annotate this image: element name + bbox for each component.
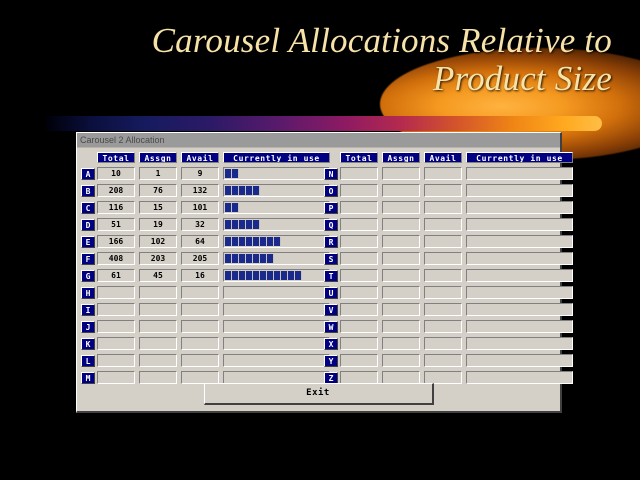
in-use-bar	[466, 286, 573, 299]
cell-avail[interactable]: 101	[181, 201, 219, 214]
cell-total[interactable]: 116	[97, 201, 135, 214]
cell-assgn[interactable]: 19	[139, 218, 177, 231]
bar-segment	[253, 271, 260, 280]
cell-avail[interactable]	[181, 320, 219, 333]
bar-segment	[225, 237, 232, 246]
cell-assgn[interactable]: 15	[139, 201, 177, 214]
bar-segment	[260, 271, 267, 280]
decorative-gradient-bar	[46, 116, 602, 131]
row-label-j: J	[81, 321, 95, 333]
window-titlebar[interactable]: Carousel 2 Allocation	[77, 133, 560, 148]
bar-segment	[253, 220, 260, 229]
cell-avail[interactable]: 16	[181, 269, 219, 282]
cell-avail[interactable]	[181, 303, 219, 316]
cell-avail[interactable]: 64	[181, 235, 219, 248]
page-title-line-1: Carousel Allocations Relative to	[32, 22, 612, 60]
cell-assgn[interactable]	[382, 303, 420, 316]
cell-avail[interactable]	[424, 269, 462, 282]
bar-segment	[239, 220, 246, 229]
cell-assgn[interactable]	[382, 286, 420, 299]
in-use-bar	[223, 184, 330, 197]
cell-avail[interactable]	[181, 286, 219, 299]
cell-avail[interactable]	[181, 354, 219, 367]
row-label-d: D	[81, 219, 95, 231]
allocation-rows-right: NOPQRSTUVWXYZ	[324, 166, 561, 385]
carousel-allocation-window: Carousel 2 Allocation Total Assgn Avail …	[76, 132, 562, 413]
bar-segment	[232, 237, 239, 246]
column-header-avail: Avail	[181, 152, 219, 163]
in-use-bar	[223, 201, 330, 214]
cell-total[interactable]	[97, 303, 135, 316]
cell-assgn[interactable]	[139, 286, 177, 299]
cell-avail[interactable]: 9	[181, 167, 219, 180]
in-use-bar	[466, 354, 573, 367]
table-row: U	[324, 285, 561, 300]
column-header-in-use: Currently in use	[223, 152, 330, 163]
in-use-bar	[466, 320, 573, 333]
cell-assgn[interactable]	[139, 354, 177, 367]
bar-segment	[239, 254, 246, 263]
row-label-s: S	[324, 253, 338, 265]
cell-total[interactable]: 208	[97, 184, 135, 197]
column-header-row-left: Total Assgn Avail Currently in use	[81, 151, 318, 164]
cell-total[interactable]	[340, 218, 378, 231]
bar-segment	[239, 237, 246, 246]
table-row: L	[81, 353, 318, 368]
in-use-bar	[223, 286, 330, 299]
bar-segment	[246, 271, 253, 280]
cell-assgn[interactable]	[382, 184, 420, 197]
cell-assgn[interactable]	[382, 235, 420, 248]
table-row: H	[81, 285, 318, 300]
in-use-bar	[466, 303, 573, 316]
cell-assgn[interactable]	[139, 337, 177, 350]
bar-segment	[260, 237, 267, 246]
bar-segment	[239, 186, 246, 195]
cell-total[interactable]	[340, 167, 378, 180]
cell-total[interactable]: 10	[97, 167, 135, 180]
bar-segment	[232, 254, 239, 263]
table-row: Q	[324, 217, 561, 232]
row-label-o: O	[324, 185, 338, 197]
row-label-n: N	[324, 168, 338, 180]
cell-avail[interactable]	[424, 184, 462, 197]
bar-segment	[232, 271, 239, 280]
table-row: N	[324, 166, 561, 181]
column-header-assgn: Assgn	[382, 152, 420, 163]
table-row: G614516	[81, 268, 318, 283]
cell-total[interactable]	[97, 337, 135, 350]
column-header-total: Total	[340, 152, 378, 163]
cell-assgn[interactable]	[382, 354, 420, 367]
table-row: T	[324, 268, 561, 283]
bar-segment	[260, 254, 267, 263]
bar-segment	[225, 254, 232, 263]
table-row: V	[324, 302, 561, 317]
cell-avail[interactable]: 205	[181, 252, 219, 265]
bar-segment	[225, 203, 232, 212]
cell-total[interactable]	[340, 337, 378, 350]
bar-segment	[246, 220, 253, 229]
cell-avail[interactable]	[424, 286, 462, 299]
row-label-h: H	[81, 287, 95, 299]
cell-assgn[interactable]: 102	[139, 235, 177, 248]
cell-total[interactable]: 408	[97, 252, 135, 265]
button-area: Exit	[77, 383, 560, 405]
table-row: F408203205	[81, 251, 318, 266]
cell-assgn[interactable]	[382, 167, 420, 180]
table-row: R	[324, 234, 561, 249]
cell-avail[interactable]: 132	[181, 184, 219, 197]
in-use-bar	[466, 184, 573, 197]
row-label-w: W	[324, 321, 338, 333]
table-row: S	[324, 251, 561, 266]
cell-assgn[interactable]	[382, 269, 420, 282]
bar-segment	[253, 186, 260, 195]
window-client-area: Total Assgn Avail Currently in use A1019…	[77, 148, 560, 411]
bar-segment	[232, 169, 239, 178]
bar-segment	[288, 271, 295, 280]
column-header-total: Total	[97, 152, 135, 163]
cell-assgn[interactable]	[139, 303, 177, 316]
cell-total[interactable]	[340, 286, 378, 299]
table-row: P	[324, 200, 561, 215]
table-row: D511932	[81, 217, 318, 232]
in-use-bar	[466, 167, 573, 180]
row-label-e: E	[81, 236, 95, 248]
in-use-bar	[223, 354, 330, 367]
cell-assgn[interactable]: 45	[139, 269, 177, 282]
cell-assgn[interactable]	[139, 320, 177, 333]
cell-avail[interactable]	[424, 235, 462, 248]
bar-segment	[246, 237, 253, 246]
cell-total[interactable]: 61	[97, 269, 135, 282]
cell-avail[interactable]	[424, 218, 462, 231]
row-label-q: Q	[324, 219, 338, 231]
row-label-u: U	[324, 287, 338, 299]
bar-segment	[239, 271, 246, 280]
cell-assgn[interactable]: 1	[139, 167, 177, 180]
in-use-bar	[223, 269, 330, 282]
in-use-bar	[466, 218, 573, 231]
bar-segment	[295, 271, 302, 280]
table-row: K	[81, 336, 318, 351]
bar-segment	[225, 169, 232, 178]
page-title: Carousel Allocations Relative to Product…	[32, 22, 612, 98]
table-row: A1019	[81, 166, 318, 181]
cell-avail[interactable]	[424, 303, 462, 316]
bar-segment	[267, 237, 274, 246]
cell-total[interactable]	[340, 184, 378, 197]
cell-avail[interactable]	[181, 337, 219, 350]
bar-segment	[232, 203, 239, 212]
allocation-pane-left: Total Assgn Avail Currently in use A1019…	[81, 151, 318, 387]
in-use-bar	[466, 269, 573, 282]
in-use-bar	[466, 337, 573, 350]
cell-assgn[interactable]	[382, 252, 420, 265]
cell-assgn[interactable]	[382, 337, 420, 350]
exit-button[interactable]: Exit	[204, 383, 434, 405]
bar-segment	[225, 220, 232, 229]
row-label-r: R	[324, 236, 338, 248]
in-use-bar	[223, 303, 330, 316]
allocation-panes: Total Assgn Avail Currently in use A1019…	[81, 151, 556, 387]
row-label-t: T	[324, 270, 338, 282]
bar-segment	[267, 254, 274, 263]
bar-segment	[281, 271, 288, 280]
table-row: C11615101	[81, 200, 318, 215]
cell-total[interactable]: 166	[97, 235, 135, 248]
in-use-bar	[223, 337, 330, 350]
bar-segment	[267, 271, 274, 280]
in-use-bar	[223, 167, 330, 180]
table-row: I	[81, 302, 318, 317]
row-label-i: I	[81, 304, 95, 316]
cell-avail[interactable]	[424, 167, 462, 180]
bar-segment	[246, 186, 253, 195]
bar-segment	[225, 271, 232, 280]
bar-segment	[274, 271, 281, 280]
row-label-v: V	[324, 304, 338, 316]
table-row: W	[324, 319, 561, 334]
table-row: B20876132	[81, 183, 318, 198]
row-label-x: X	[324, 338, 338, 350]
table-row: Y	[324, 353, 561, 368]
cell-avail[interactable]	[424, 201, 462, 214]
cell-total[interactable]	[97, 320, 135, 333]
page-title-line-2: Product Size	[32, 60, 612, 98]
cell-assgn[interactable]: 203	[139, 252, 177, 265]
column-header-avail: Avail	[424, 152, 462, 163]
row-label-a: A	[81, 168, 95, 180]
bar-segment	[274, 237, 281, 246]
row-label-y: Y	[324, 355, 338, 367]
row-label-k: K	[81, 338, 95, 350]
cell-avail[interactable]	[424, 354, 462, 367]
cell-avail[interactable]	[424, 320, 462, 333]
row-label-b: B	[81, 185, 95, 197]
cell-total[interactable]: 51	[97, 218, 135, 231]
in-use-bar	[223, 235, 330, 248]
cell-total[interactable]	[340, 269, 378, 282]
row-label-p: P	[324, 202, 338, 214]
bar-segment	[246, 254, 253, 263]
in-use-bar	[466, 201, 573, 214]
bar-segment	[253, 237, 260, 246]
cell-total[interactable]	[97, 354, 135, 367]
cell-total[interactable]	[340, 201, 378, 214]
column-header-row-right: Total Assgn Avail Currently in use	[324, 151, 561, 164]
cell-assgn[interactable]: 76	[139, 184, 177, 197]
in-use-bar	[223, 252, 330, 265]
in-use-bar	[466, 252, 573, 265]
cell-total[interactable]	[340, 252, 378, 265]
cell-assgn[interactable]	[382, 201, 420, 214]
cell-total[interactable]	[340, 320, 378, 333]
row-label-l: L	[81, 355, 95, 367]
allocation-pane-right: Total Assgn Avail Currently in use NOPQR…	[324, 151, 561, 387]
row-label-m: M	[81, 372, 95, 384]
row-label-g: G	[81, 270, 95, 282]
allocation-rows-left: A1019B20876132C11615101D511932E16610264F…	[81, 166, 318, 385]
in-use-bar	[223, 320, 330, 333]
bar-segment	[232, 186, 239, 195]
table-row: E16610264	[81, 234, 318, 249]
bar-segment	[253, 254, 260, 263]
in-use-bar	[223, 218, 330, 231]
cell-total[interactable]	[340, 303, 378, 316]
presentation-slide: Carousel Allocations Relative to Product…	[0, 0, 640, 480]
cell-avail[interactable]	[424, 337, 462, 350]
cell-assgn[interactable]	[382, 320, 420, 333]
cell-total[interactable]	[97, 286, 135, 299]
column-header-in-use: Currently in use	[466, 152, 573, 163]
window-title-text: Carousel 2 Allocation	[80, 135, 165, 145]
table-row: X	[324, 336, 561, 351]
in-use-bar	[466, 235, 573, 248]
table-row: O	[324, 183, 561, 198]
table-row: J	[81, 319, 318, 334]
bar-segment	[225, 186, 232, 195]
cell-avail[interactable]	[424, 252, 462, 265]
row-label-c: C	[81, 202, 95, 214]
row-label-f: F	[81, 253, 95, 265]
row-label-z: Z	[324, 372, 338, 384]
cell-total[interactable]	[340, 354, 378, 367]
bar-segment	[232, 220, 239, 229]
cell-assgn[interactable]	[382, 218, 420, 231]
column-header-assgn: Assgn	[139, 152, 177, 163]
cell-avail[interactable]: 32	[181, 218, 219, 231]
cell-total[interactable]	[340, 235, 378, 248]
